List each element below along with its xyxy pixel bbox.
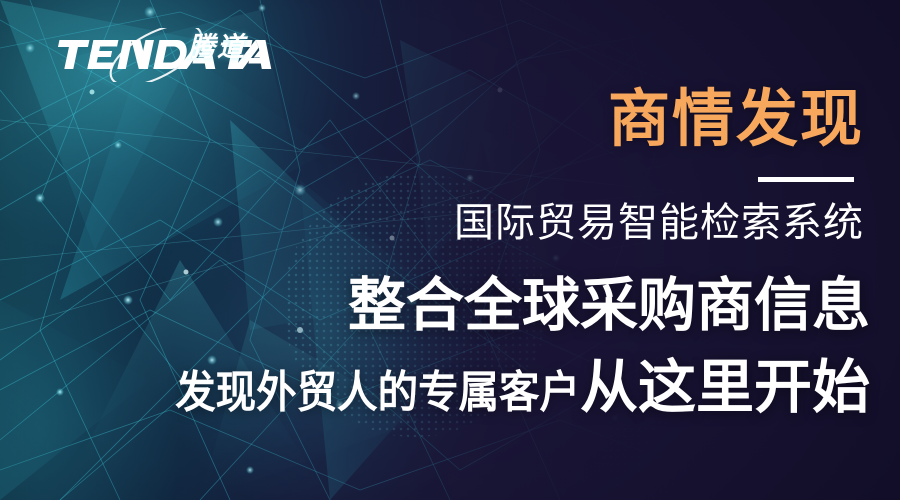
accent-underline-rule [758,177,854,182]
headline-sub: 发现外贸人的专属客户 从这里开始 [140,358,870,416]
copy-block: 商情发现 国际贸易智能检索系统 整合全球采购商信息 发现外贸人的专属客户 从这里… [0,0,900,500]
headline-main: 整合全球采购商信息 [348,276,870,334]
headline-sub-part-a: 发现外贸人的专属客户 [175,371,580,415]
accent-headline: 商情发现 [608,88,864,150]
promo-banner: 腾道 商情发现 国际贸易智能检索系统 整合全球采购商信息 发现外贸人的专属客户 … [0,0,900,500]
subtitle: 国际贸易智能检索系统 [454,203,864,243]
headline-sub-part-b: 从这里开始 [580,358,870,416]
